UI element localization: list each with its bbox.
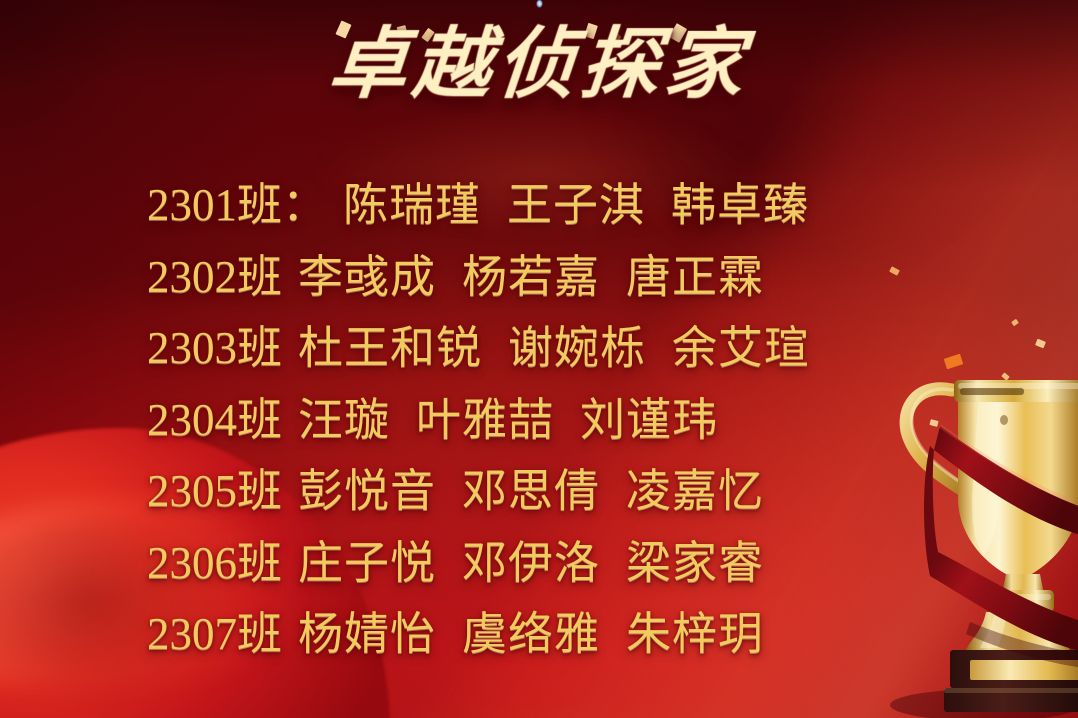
student-name: 谢婉栎: [508, 326, 646, 371]
student-name: 庄子悦: [298, 541, 436, 586]
student-name: 刘谨玮: [580, 398, 718, 443]
student-name: 虞络雅: [462, 612, 600, 657]
class-label: 2306班: [147, 541, 282, 586]
class-label: 2303班: [147, 326, 282, 371]
roster-row: 2301班： 陈瑞瑾 王子淇 韩卓臻: [147, 170, 1018, 242]
student-name: 邓思倩: [462, 469, 600, 514]
student-name: 杨若嘉: [462, 255, 600, 300]
student-name: 邓伊洛: [462, 541, 600, 586]
student-name: 梁家睿: [626, 541, 764, 586]
student-name: 凌嘉忆: [626, 469, 764, 514]
roster-row: 2307班 杨婧怡 虞络雅 朱梓玥: [147, 599, 1018, 671]
lens-dot-artifact: [536, 0, 543, 9]
student-name: 汪璇: [298, 398, 390, 443]
student-name: 唐正霖: [626, 255, 764, 300]
student-name: 杜王和锐: [298, 326, 482, 371]
student-name: 王子淇: [507, 183, 645, 228]
roster-row: 2303班 杜王和锐 谢婉栎 余艾瑄: [147, 313, 1018, 385]
page-title: 卓越侦探家: [0, 26, 1078, 104]
roster-row: 2304班 汪璇 叶雅喆 刘谨玮: [147, 385, 1018, 457]
student-name: 叶雅喆: [416, 398, 554, 443]
roster-row: 2306班 庄子悦 邓伊洛 梁家睿: [147, 528, 1018, 600]
class-label: 2305班: [147, 469, 282, 514]
class-label: 2302班: [147, 255, 282, 300]
student-name: 杨婧怡: [298, 612, 436, 657]
class-label: 2304班: [147, 398, 282, 443]
student-name: 余艾瑄: [672, 326, 810, 371]
award-poster: 卓越侦探家 2301班： 陈瑞瑾 王子淇 韩卓臻 2302班 李彧成 杨若嘉 唐…: [0, 0, 1078, 718]
honor-roll-list: 2301班： 陈瑞瑾 王子淇 韩卓臻 2302班 李彧成 杨若嘉 唐正霖 230…: [147, 170, 1018, 671]
student-name: 彭悦音: [298, 469, 436, 514]
student-name: 韩卓臻: [671, 183, 809, 228]
class-label: 2301班：: [147, 183, 327, 228]
student-name: 朱梓玥: [626, 612, 764, 657]
student-name: 陈瑞瑾: [343, 183, 481, 228]
roster-row: 2302班 李彧成 杨若嘉 唐正霖: [147, 242, 1018, 314]
class-label: 2307班: [147, 612, 282, 657]
roster-row: 2305班 彭悦音 邓思倩 凌嘉忆: [147, 456, 1018, 528]
student-name: 李彧成: [298, 255, 436, 300]
